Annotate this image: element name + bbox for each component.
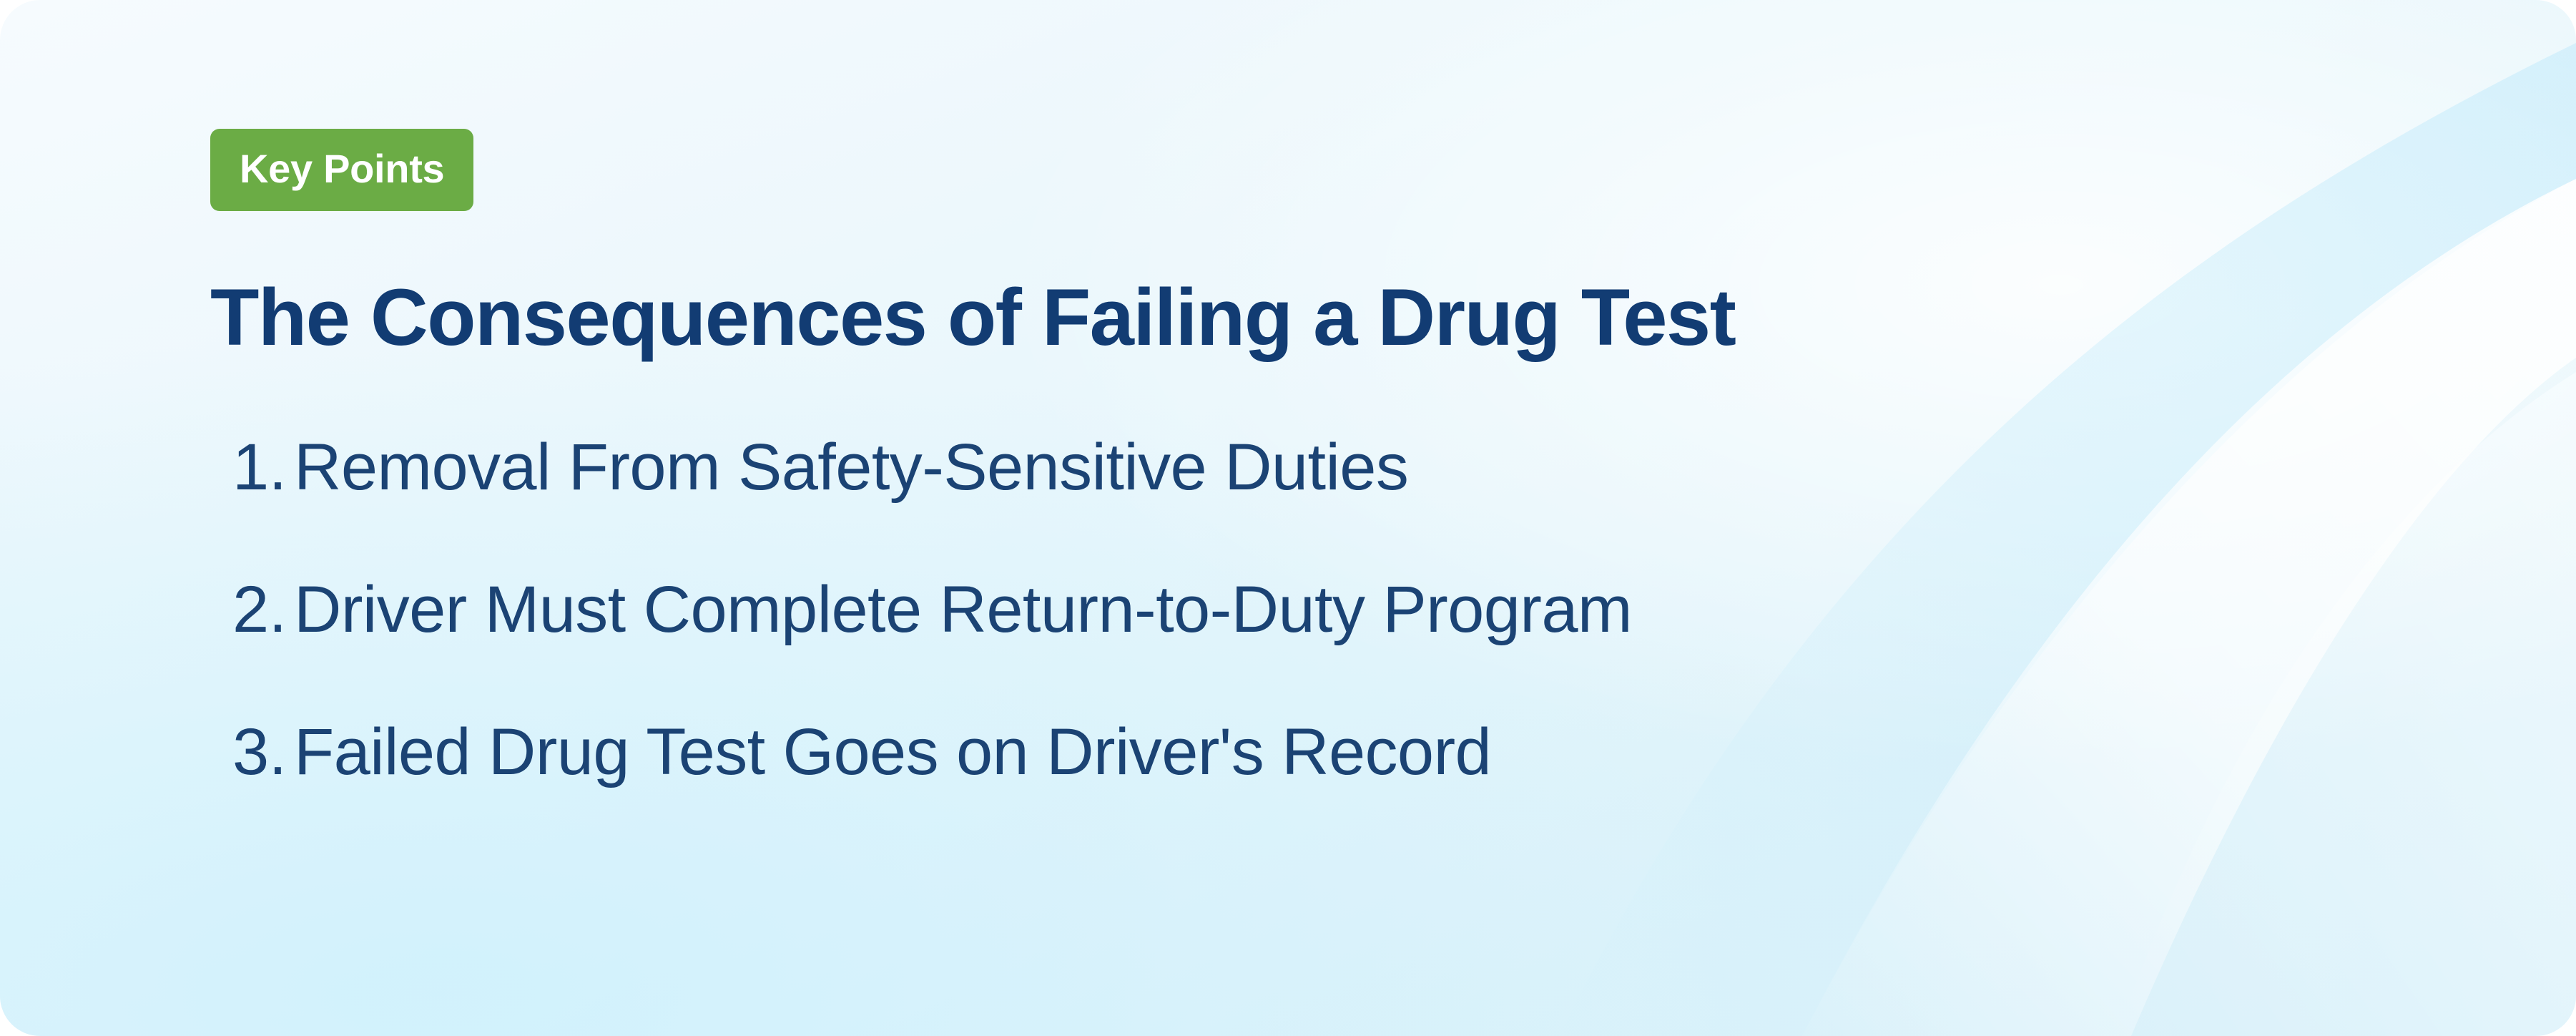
card-content: Key Points The Consequences of Failing a… [0, 0, 2576, 785]
list-item-number: 3. [232, 719, 294, 785]
list-item: 3. Failed Drug Test Goes on Driver's Rec… [210, 719, 2576, 785]
list-item-number: 1. [232, 434, 294, 500]
list-item-number: 2. [232, 577, 294, 642]
list-item-label: Removal From Safety-Sensitive Duties [294, 434, 1408, 500]
list-item-label: Failed Drug Test Goes on Driver's Record [294, 719, 1491, 785]
key-points-list: 1. Removal From Safety-Sensitive Duties … [210, 434, 2576, 785]
list-item-label: Driver Must Complete Return-to-Duty Prog… [294, 577, 1632, 642]
list-item: 2. Driver Must Complete Return-to-Duty P… [210, 577, 2576, 642]
key-points-card: Key Points The Consequences of Failing a… [0, 0, 2576, 1036]
key-points-badge: Key Points [210, 129, 473, 211]
page-title: The Consequences of Failing a Drug Test [210, 277, 2576, 358]
list-item: 1. Removal From Safety-Sensitive Duties [210, 434, 2576, 500]
